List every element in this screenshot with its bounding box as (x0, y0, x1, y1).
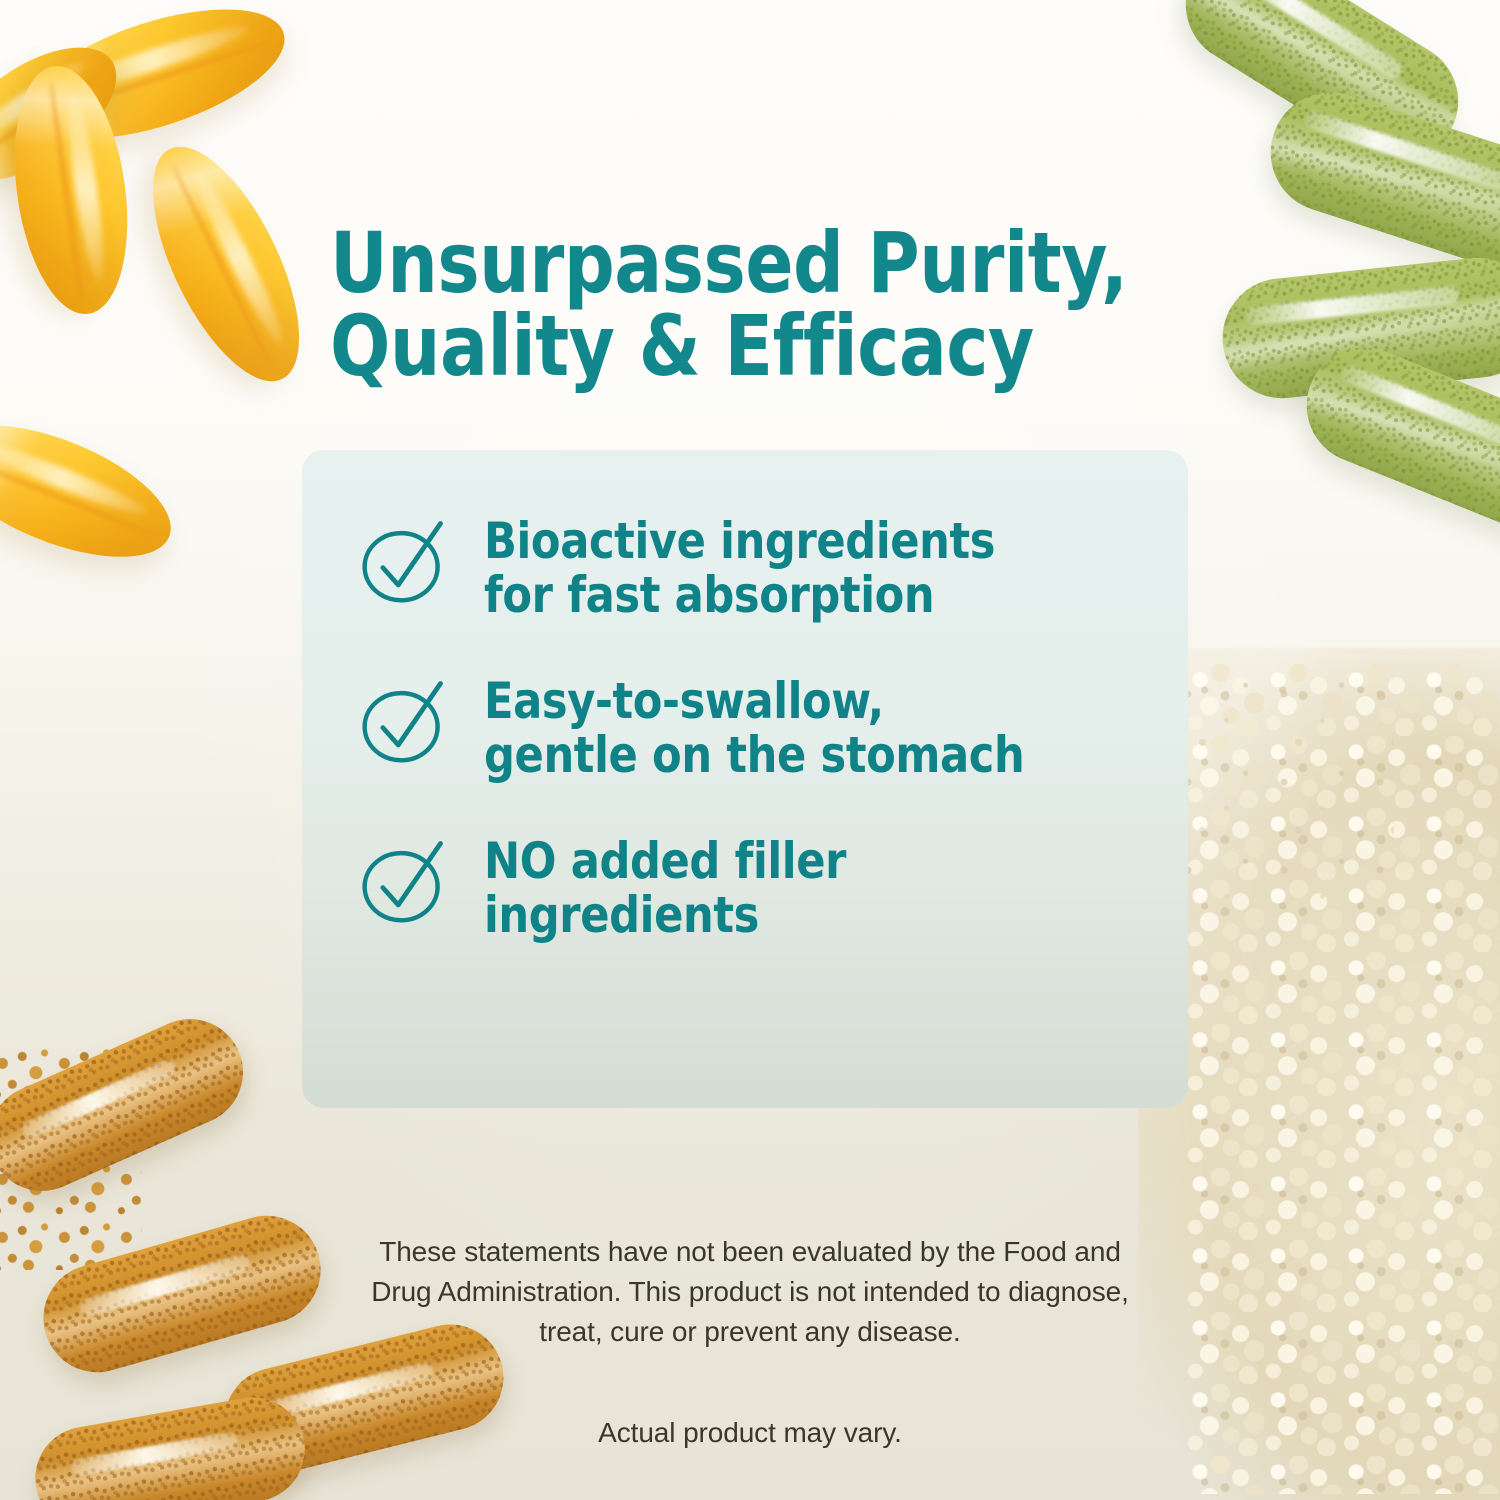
benefit-text: Bioactive ingredients for fast absorptio… (484, 508, 995, 622)
benefits-list: Bioactive ingredients for fast absorptio… (356, 508, 1148, 942)
disclaimer-line-3: treat, cure or prevent any disease. (300, 1312, 1200, 1352)
benefit-text: Easy-to-swallow, gentle on the stomach (484, 668, 1024, 782)
benefit-line-2: ingredients (484, 886, 759, 944)
turmeric-capsule (31, 1203, 334, 1385)
disclaimer-line-2: Drug Administration. This product is not… (300, 1272, 1200, 1312)
disclaimer: These statements have not been evaluated… (300, 1232, 1200, 1453)
green-capsule (1289, 330, 1500, 550)
check-circle-icon (356, 832, 452, 928)
page-title: Unsurpassed Purity, Quality & Efficacy (330, 222, 1157, 387)
check-circle-icon (356, 512, 452, 608)
product-infographic: Unsurpassed Purity, Quality & Efficacy B… (0, 0, 1500, 1500)
benefit-line-1: Easy-to-swallow, (484, 672, 884, 730)
turmeric-capsule (27, 1389, 313, 1500)
softgel-capsule (123, 126, 329, 402)
turmeric-crumbs (0, 1046, 142, 1270)
benefit-line-2: gentle on the stomach (484, 726, 1024, 784)
powder-grains (1186, 664, 1500, 1494)
green-capsule (1164, 0, 1481, 183)
green-capsule (1255, 77, 1500, 288)
powder-dust (1164, 672, 1394, 902)
benefits-card: Bioactive ingredients for fast absorptio… (302, 450, 1188, 1108)
benefit-text: NO added filler ingredients (484, 828, 846, 942)
disclaimer-line-1: These statements have not been evaluated… (300, 1232, 1200, 1272)
softgel-capsule (12, 0, 299, 165)
benefit-item: NO added filler ingredients (356, 828, 1148, 942)
page-title-line-2: Quality & Efficacy (330, 305, 1157, 387)
benefit-line-2: for fast absorption (484, 566, 934, 624)
benefit-item: Bioactive ingredients for fast absorptio… (356, 508, 1148, 622)
turmeric-capsule (0, 1002, 260, 1208)
check-circle-icon (356, 672, 452, 768)
softgel-capsule (0, 398, 188, 584)
product-variation-note: Actual product may vary. (300, 1413, 1200, 1453)
green-capsule (1217, 252, 1500, 404)
benefit-line-1: Bioactive ingredients (484, 512, 995, 570)
softgel-capsule (0, 21, 139, 207)
softgel-capsule (0, 59, 142, 322)
benefit-line-1: NO added filler (484, 832, 846, 890)
benefit-item: Easy-to-swallow, gentle on the stomach (356, 668, 1148, 782)
